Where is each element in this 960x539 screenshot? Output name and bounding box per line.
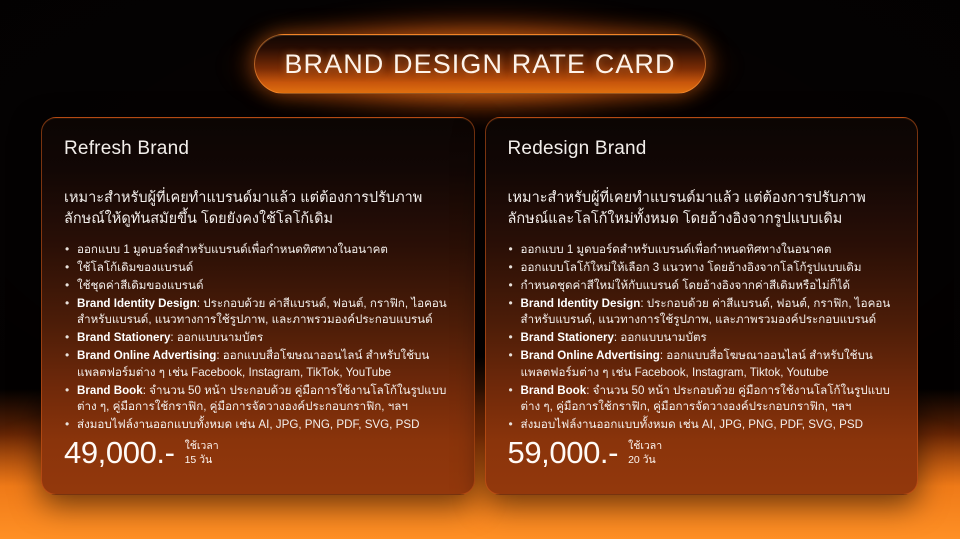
page-title: BRAND DESIGN RATE CARD [284,49,675,80]
package-title: Refresh Brand [64,138,452,160]
feature-item: ใช้โลโก้เดิมของแบรนด์ [64,260,452,276]
duration-value: 20 วัน [628,454,662,468]
duration-value: 15 วัน [185,454,219,468]
feature-item: Brand Stationery: ออกแบบนามบัตร [64,330,452,346]
package-price: 59,000.- [508,437,619,468]
feature-item: ออกแบบ 1 มูดบอร์ดสำหรับแบรนด์เพื่อกำหนดท… [64,242,452,258]
feature-list: ออกแบบ 1 มูดบอร์ดสำหรับแบรนด์เพื่อกำหนดท… [64,242,452,435]
feature-item: ส่งมอบไฟล์งานออกแบบทั้งหมด เช่น AI, JPG,… [64,417,452,433]
package-description: เหมาะสำหรับผู้ที่เคยทำแบรนด์มาแล้ว แต่ต้… [64,188,452,230]
feature-text: ออกแบบ 1 มูดบอร์ดสำหรับแบรนด์เพื่อกำหนดท… [77,243,388,256]
feature-label: Brand Stationery [77,331,170,344]
feature-item: Brand Book: จำนวน 50 หน้า ประกอบด้วย คู่… [508,383,896,416]
rate-card-poster: BRAND DESIGN RATE CARD Refresh Brand เหม… [0,0,960,539]
package-card-refresh-brand: Refresh Brand เหมาะสำหรับผู้ที่เคยทำแบรน… [41,117,475,495]
feature-text: : ออกแบบนามบัตร [614,331,707,344]
package-title: Redesign Brand [508,138,896,160]
feature-list: ออกแบบ 1 มูดบอร์ดสำหรับแบรนด์เพื่อกำหนดท… [508,242,896,435]
package-price: 49,000.- [64,437,175,468]
feature-text: กำหนดชุดค่าสีใหม่ให้กับแบรนด์ โดยอ้างอิง… [521,279,851,292]
title-banner: BRAND DESIGN RATE CARD [254,34,706,94]
feature-text: ใช้โลโก้เดิมของแบรนด์ [77,261,193,274]
feature-item: ส่งมอบไฟล์งานออกแบบทั้งหมด เช่น AI, JPG,… [508,417,896,433]
feature-label: Brand Book [77,384,143,397]
feature-item: ออกแบบโลโก้ใหม่ให้เลือก 3 แนวทาง โดยอ้าง… [508,260,896,276]
feature-label: Brand Identity Design [77,297,197,310]
price-row: 59,000.- ใช้เวลา 20 วัน [508,437,896,494]
feature-label: Brand Online Advertising [521,349,660,362]
feature-item: Brand Identity Design: ประกอบด้วย ค่าสีแ… [508,296,896,329]
feature-item: Brand Online Advertising: ออกแบบสื่อโฆษณ… [508,348,896,381]
feature-label: Brand Identity Design [521,297,641,310]
feature-text: ส่งมอบไฟล์งานออกแบบทั้งหมด เช่น AI, JPG,… [521,418,863,431]
package-duration: ใช้เวลา 20 วัน [628,437,662,468]
feature-item: Brand Stationery: ออกแบบนามบัตร [508,330,896,346]
feature-text: ออกแบบ 1 มูดบอร์ดสำหรับแบรนด์เพื่อกำหนดท… [521,243,832,256]
feature-item: Brand Online Advertising: ออกแบบสื่อโฆษณ… [64,348,452,381]
feature-item: กำหนดชุดค่าสีใหม่ให้กับแบรนด์ โดยอ้างอิง… [508,278,896,294]
title-pill: BRAND DESIGN RATE CARD [254,34,706,94]
package-cards: Refresh Brand เหมาะสำหรับผู้ที่เคยทำแบรน… [41,117,918,495]
price-row: 49,000.- ใช้เวลา 15 วัน [64,437,452,494]
feature-text: ออกแบบโลโก้ใหม่ให้เลือก 3 แนวทาง โดยอ้าง… [521,261,862,274]
feature-item: Brand Book: จำนวน 50 หน้า ประกอบด้วย คู่… [64,383,452,416]
package-description: เหมาะสำหรับผู้ที่เคยทำแบรนด์มาแล้ว แต่ต้… [508,188,896,230]
feature-text: ใช้ชุดค่าสีเดิมของแบรนด์ [77,279,203,292]
duration-label: ใช้เวลา [185,440,219,454]
feature-label: Brand Stationery [521,331,614,344]
feature-item: ออกแบบ 1 มูดบอร์ดสำหรับแบรนด์เพื่อกำหนดท… [508,242,896,258]
feature-text: : ออกแบบนามบัตร [170,331,263,344]
feature-item: ใช้ชุดค่าสีเดิมของแบรนด์ [64,278,452,294]
feature-label: Brand Online Advertising [77,349,216,362]
duration-label: ใช้เวลา [628,440,662,454]
feature-label: Brand Book [521,384,587,397]
feature-text: ส่งมอบไฟล์งานออกแบบทั้งหมด เช่น AI, JPG,… [77,418,419,431]
feature-item: Brand Identity Design: ประกอบด้วย ค่าสีแ… [64,296,452,329]
package-card-redesign-brand: Redesign Brand เหมาะสำหรับผู้ที่เคยทำแบร… [485,117,919,495]
package-duration: ใช้เวลา 15 วัน [185,437,219,468]
